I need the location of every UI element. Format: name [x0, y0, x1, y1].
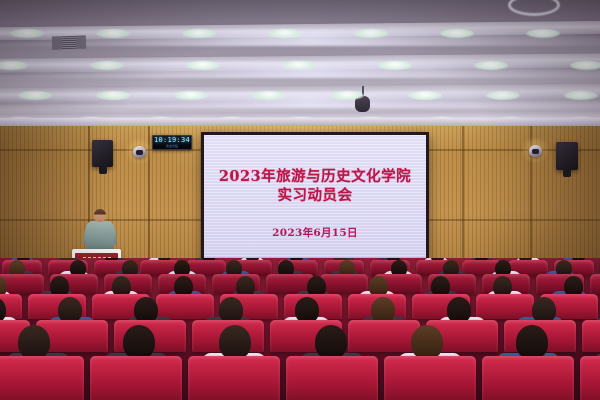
ceiling-downlight — [174, 91, 208, 100]
ceiling-downlight — [330, 91, 364, 100]
auditorium-seat[interactable] — [90, 356, 182, 400]
ceiling-downlight — [10, 29, 44, 38]
slide-title: 2023年旅游与历史文化学院 实习动员会 — [219, 167, 411, 205]
audience-member-head — [123, 325, 155, 359]
audience-member-head — [516, 325, 548, 359]
audience-seating — [0, 258, 600, 400]
ceiling-downlight — [570, 61, 600, 70]
ceiling-downlight — [186, 61, 220, 70]
projection-screen-frame: 2023年旅游与历史文化学院 实习动员会 2023年6月15日 — [201, 132, 429, 270]
security-camera-left — [133, 146, 146, 158]
auditorium-seat[interactable] — [320, 274, 368, 294]
ceiling-downlight — [268, 29, 302, 38]
ceiling-downlight — [564, 91, 598, 100]
ceiling-downlight — [90, 61, 124, 70]
presenter — [86, 209, 114, 253]
clock-time-display: 10:19:34 — [154, 137, 190, 144]
auditorium-seat[interactable] — [590, 274, 600, 294]
security-camera-right — [529, 145, 542, 157]
audience-member-head — [411, 325, 443, 359]
clock-subtitle: 欢迎光临 — [166, 144, 178, 148]
ceiling-downlight — [18, 91, 52, 100]
auditorium-seat[interactable] — [384, 356, 476, 400]
digital-clock-sign: 10:19:34 欢迎光临 — [152, 135, 192, 150]
ceiling — [0, 0, 600, 128]
wall-speaker-left — [92, 140, 113, 167]
auditorium-seat[interactable] — [156, 294, 214, 319]
ceiling-downlight — [378, 61, 412, 70]
ceiling-downlight — [182, 29, 216, 38]
slide-title-line2: 实习动员会 — [219, 186, 411, 205]
ceiling-downlight — [96, 91, 130, 100]
slide-title-line1: 2023年旅游与历史文化学院 — [219, 167, 411, 186]
ceiling-downlight — [354, 29, 388, 38]
projection-screen: 2023年旅游与历史文化学院 实习动员会 2023年6月15日 — [204, 135, 426, 267]
auditorium-seat[interactable] — [348, 320, 420, 352]
ceiling-downlight — [486, 91, 520, 100]
auditorium-photo: 10:19:34 欢迎光临 2023年旅游与历史文化学院 实习动员会 2023年… — [0, 0, 600, 400]
ceiling-air-vent — [52, 35, 86, 49]
ceiling-downlight — [96, 29, 130, 38]
circular-ceiling-fixture — [508, 0, 560, 16]
ceiling-downlight — [526, 29, 560, 38]
ceiling-downlight — [440, 29, 474, 38]
wall-cornice — [0, 118, 600, 126]
auditorium-seat[interactable] — [188, 356, 280, 400]
audience-member-head — [315, 325, 347, 359]
ceiling-downlight — [282, 61, 316, 70]
auditorium-seat[interactable] — [286, 356, 378, 400]
audience-member-head — [219, 325, 251, 359]
auditorium-seat[interactable] — [476, 294, 534, 319]
auditorium-seat[interactable] — [482, 356, 574, 400]
presenter-head — [94, 209, 106, 222]
wall-speaker-right — [556, 142, 578, 170]
auditorium-seat[interactable] — [582, 320, 600, 352]
auditorium-seat[interactable] — [0, 356, 84, 400]
ceiling-downlight — [474, 61, 508, 70]
auditorium-seat[interactable] — [580, 356, 600, 400]
ceiling-downlight — [408, 91, 442, 100]
audience-member-head — [18, 325, 50, 359]
ceiling-downlight — [252, 91, 286, 100]
slide-date: 2023年6月15日 — [272, 225, 358, 240]
